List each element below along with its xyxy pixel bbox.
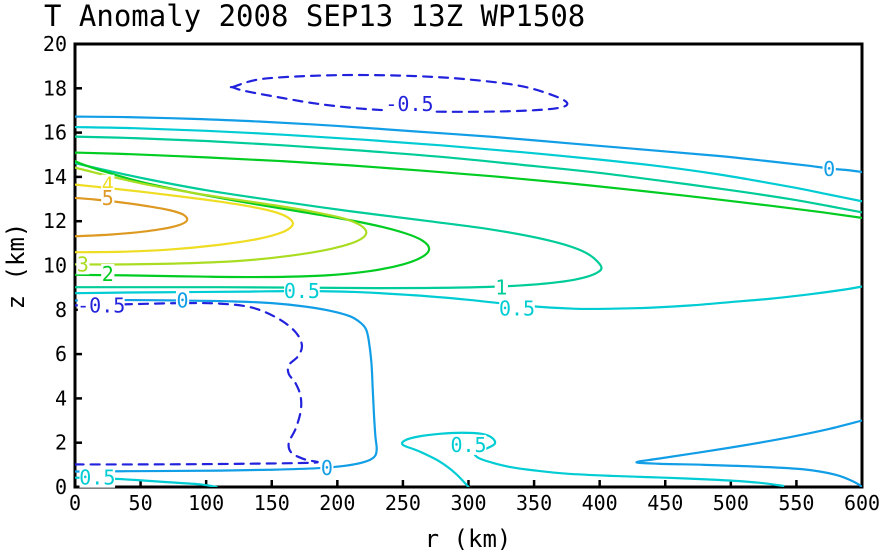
contour-line-neg0p5 (75, 303, 318, 464)
x-tick-label: 350 (516, 491, 552, 515)
x-tick-label: 300 (450, 491, 486, 515)
contour-label-neg0p5: -0.5 (77, 293, 125, 317)
y-tick-label: 18 (43, 76, 67, 100)
x-tick-label: 50 (129, 491, 153, 515)
contour-label-neg0p5: -0.5 (385, 92, 433, 116)
x-tick-label: 150 (254, 491, 290, 515)
y-tick-label: 14 (43, 165, 67, 189)
page-title: T Anomaly 2008 SEP13 13Z WP1508 (44, 0, 585, 33)
contour-label-3: 3 (77, 252, 89, 276)
x-tick-label: 250 (385, 491, 421, 515)
y-tick-label: 4 (55, 386, 67, 410)
contour-line-5 (75, 198, 187, 236)
contour-label-0p5: 0.5 (284, 279, 320, 303)
y-tick-label: 16 (43, 121, 67, 145)
contour-label-5: 5 (102, 186, 114, 210)
x-tick-label: 100 (188, 491, 224, 515)
contour-labels-group: -0.5-0.50000.50.50.50.512345 (76, 92, 836, 490)
contour-label-0p5: 0.5 (450, 433, 486, 457)
contour-line-1 (75, 163, 601, 288)
y-tick-label: 6 (55, 342, 67, 366)
contour-label-0p5: 0.5 (499, 297, 535, 321)
x-axis-title: r (km) (425, 525, 512, 553)
contour-line-0 (75, 117, 862, 172)
contour-line-2 (75, 153, 862, 218)
contour-label-0: 0 (177, 288, 189, 312)
contour-line-0p5 (75, 287, 862, 309)
y-tick-label: 2 (55, 431, 67, 455)
contour-plot-figure: T Anomaly 2008 SEP13 13Z WP1508 05010015… (0, 0, 879, 558)
plot-canvas: T Anomaly 2008 SEP13 13Z WP1508 05010015… (0, 0, 879, 558)
contour-label-1: 1 (495, 276, 507, 300)
x-tick-label: 400 (582, 491, 618, 515)
contour-label-0p5: 0.5 (79, 466, 115, 490)
y-tick-label: 12 (43, 209, 67, 233)
contour-label-0: 0 (321, 456, 333, 480)
y-axis-tick-labels: 02468101214161820 (43, 32, 67, 499)
contour-line-0 (75, 300, 377, 471)
x-axis-tick-labels: 050100150200250300350400450500550600 (69, 491, 879, 515)
y-axis-title: z (km) (2, 223, 30, 310)
y-tick-label: 10 (43, 254, 67, 278)
x-tick-label: 500 (713, 491, 749, 515)
x-tick-label: 600 (844, 491, 879, 515)
x-tick-label: 450 (647, 491, 683, 515)
x-tick-label: 0 (69, 491, 81, 515)
contour-label-0: 0 (823, 157, 835, 181)
contour-lines-group (73, 75, 862, 487)
y-tick-label: 20 (43, 32, 67, 56)
contour-line-0p5 (75, 127, 862, 201)
y-tick-label: 0 (55, 475, 67, 499)
x-tick-label: 200 (319, 491, 355, 515)
plot-frame (75, 44, 862, 487)
contour-label-2: 2 (102, 262, 114, 286)
x-tick-label: 550 (778, 491, 814, 515)
y-tick-label: 8 (55, 298, 67, 322)
